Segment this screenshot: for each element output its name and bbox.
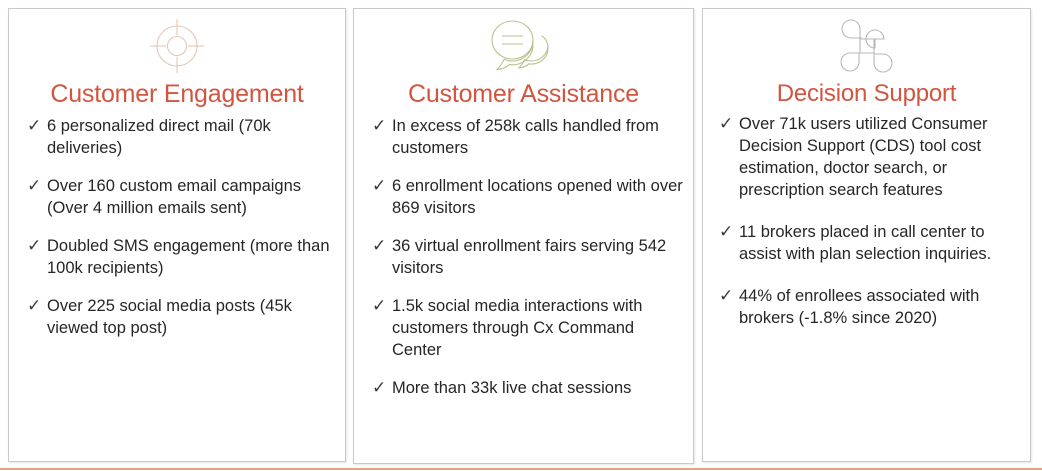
list-item-text: 6 personalized direct mail (70k deliveri… [47, 115, 337, 159]
target-crosshair-icon [9, 9, 345, 81]
list-item: ✓ 36 virtual enrollment fairs serving 54… [372, 235, 683, 279]
bullet-list: ✓ In excess of 258k calls handled from c… [354, 115, 693, 399]
list-item-text: Over 225 social media posts (45k viewed … [47, 295, 337, 339]
bottom-accent-rule [0, 468, 1042, 470]
list-item: ✓ Over 225 social media posts (45k viewe… [27, 295, 337, 339]
check-icon: ✓ [27, 115, 47, 137]
list-item: ✓ 6 enrollment locations opened with ove… [372, 175, 683, 219]
list-item: ✓ Doubled SMS engagement (more than 100k… [27, 235, 337, 279]
list-item-text: 36 virtual enrollment fairs serving 542 … [392, 235, 683, 279]
list-item-text: 44% of enrollees associated with brokers… [739, 285, 1020, 329]
list-item: ✓ 44% of enrollees associated with broke… [719, 285, 1020, 329]
card-customer-assistance: Customer Assistance ✓ In excess of 258k … [353, 8, 694, 464]
list-item-text: 6 enrollment locations opened with over … [392, 175, 683, 219]
card-title: Customer Engagement [9, 81, 345, 109]
chat-bubbles-icon [354, 9, 693, 81]
list-item-text: 1.5k social media interactions with cust… [392, 295, 683, 361]
list-item: ✓ Over 160 custom email campaigns (Over … [27, 175, 337, 219]
command-loop-icon [703, 9, 1030, 81]
list-item-text: Over 160 custom email campaigns (Over 4 … [47, 175, 337, 219]
list-item: ✓ 1.5k social media interactions with cu… [372, 295, 683, 361]
bullet-list: ✓ 6 personalized direct mail (70k delive… [9, 115, 345, 339]
list-item-text: In excess of 258k calls handled from cus… [392, 115, 683, 159]
list-item: ✓ In excess of 258k calls handled from c… [372, 115, 683, 159]
check-icon: ✓ [719, 113, 739, 135]
check-icon: ✓ [372, 377, 392, 399]
list-item-text: More than 33k live chat sessions [392, 377, 683, 399]
check-icon: ✓ [719, 285, 739, 307]
check-icon: ✓ [372, 235, 392, 257]
list-item-text: 11 brokers placed in call center to assi… [739, 221, 1020, 265]
check-icon: ✓ [372, 115, 392, 137]
check-icon: ✓ [27, 235, 47, 257]
list-item: ✓ Over 71k users utilized Consumer Decis… [719, 113, 1020, 201]
card-decision-support: Decision Support ✓ Over 71k users utiliz… [702, 8, 1031, 462]
slide-canvas: Customer Engagement ✓ 6 personalized dir… [0, 0, 1042, 471]
list-item-text: Over 71k users utilized Consumer Decisio… [739, 113, 1020, 201]
list-item: ✓ 11 brokers placed in call center to as… [719, 221, 1020, 265]
list-item: ✓ 6 personalized direct mail (70k delive… [27, 115, 337, 159]
check-icon: ✓ [27, 295, 47, 317]
check-icon: ✓ [372, 175, 392, 197]
card-customer-engagement: Customer Engagement ✓ 6 personalized dir… [8, 8, 346, 462]
bullet-list: ✓ Over 71k users utilized Consumer Decis… [703, 113, 1030, 329]
card-title: Decision Support [703, 81, 1030, 107]
list-item-text: Doubled SMS engagement (more than 100k r… [47, 235, 337, 279]
check-icon: ✓ [372, 295, 392, 317]
check-icon: ✓ [27, 175, 47, 197]
card-title: Customer Assistance [354, 81, 693, 109]
check-icon: ✓ [719, 221, 739, 243]
list-item: ✓ More than 33k live chat sessions [372, 377, 683, 399]
